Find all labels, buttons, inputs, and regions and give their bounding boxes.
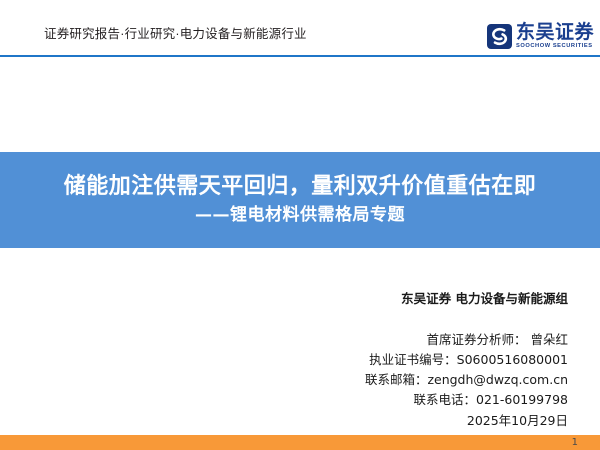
report-subtitle: ——锂电材料供需格局专题 (195, 204, 405, 227)
page-number: 1 (572, 436, 578, 449)
footer-accent-bar (0, 435, 600, 450)
report-title: 储能加注供需天平回归，量利双升价值重估在即 (64, 173, 537, 201)
title-banner: 储能加注供需天平回归，量利双升价值重估在即 ——锂电材料供需格局专题 (0, 152, 600, 248)
brand-logo-wordmark: 东吴证券 SOOCHOW SECURITIES (516, 23, 594, 50)
report-date-line: 2025年10月29日 (238, 411, 568, 431)
report-cover-page: 证券研究报告·行业研究·电力设备与新能源行业 东吴证券 SOOCHOW SECU… (0, 0, 600, 450)
brand-name-en: SOOCHOW SECURITIES (516, 44, 596, 50)
soochow-swoosh-icon (487, 24, 512, 49)
brand-logo: 东吴证券 SOOCHOW SECURITIES (487, 19, 594, 53)
analyst-info-block: 东吴证券 电力设备与新能源组 首席证券分析师： 曾朵红 执业证书编号：S0600… (238, 290, 568, 431)
analyst-phone-line: 联系电话：021-60199798 (238, 390, 568, 410)
header-divider (0, 55, 600, 57)
analyst-contact-list: 首席证券分析师： 曾朵红 执业证书编号：S0600516080001 联系邮箱：… (238, 330, 568, 431)
page-header: 证券研究报告·行业研究·电力设备与新能源行业 东吴证券 SOOCHOW SECU… (0, 0, 600, 56)
analyst-name-line: 首席证券分析师： 曾朵红 (238, 330, 568, 350)
analyst-license-line: 执业证书编号：S0600516080001 (238, 350, 568, 370)
analyst-email-line: 联系邮箱：zengdh@dwzq.com.cn (238, 370, 568, 390)
research-team-name: 东吴证券 电力设备与新能源组 (238, 290, 568, 308)
header-breadcrumb-title: 证券研究报告·行业研究·电力设备与新能源行业 (44, 23, 307, 42)
brand-name-cn: 东吴证券 (516, 23, 594, 42)
